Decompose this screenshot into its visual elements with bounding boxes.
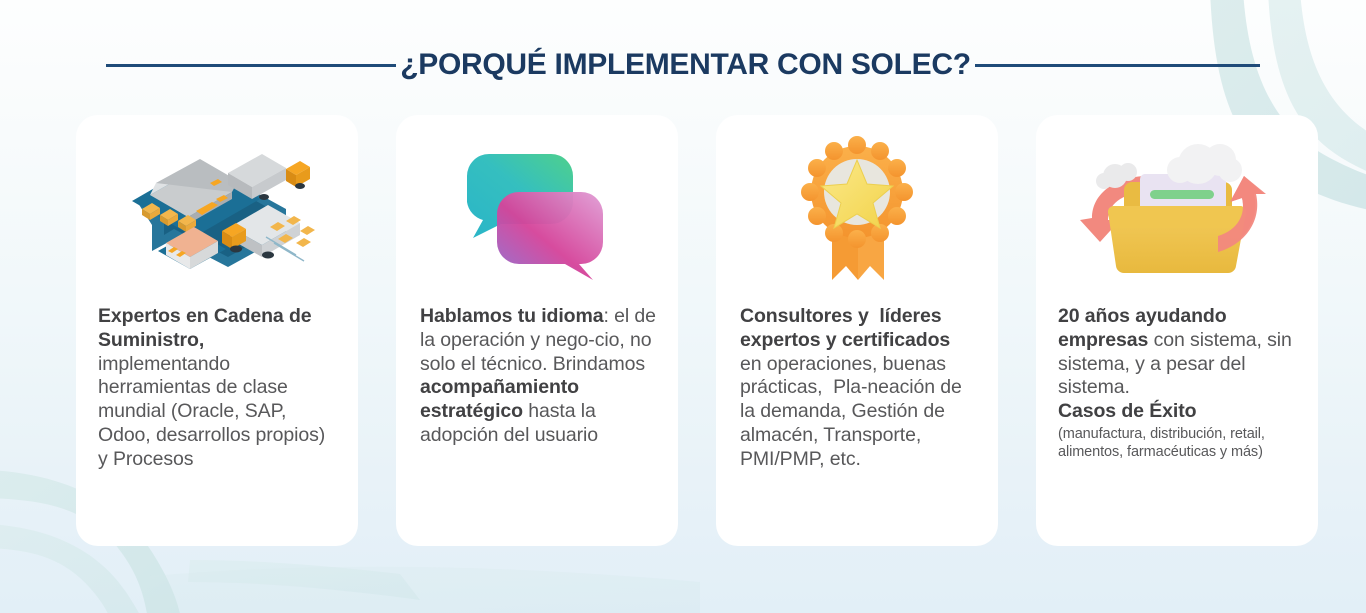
benefit-card-text: 20 años ayudando empresas con sistema, s… [1036, 305, 1318, 461]
benefit-card[interactable]: Hablamos tu idioma: el de la operación y… [396, 115, 678, 546]
benefit-card-text: Consultores y líderes expertos y certifi… [716, 305, 998, 471]
folder-documents-refresh-icon [1036, 115, 1318, 305]
section-header: ¿PORQUÉ IMPLEMENTAR CON SOLEC? [0, 44, 1366, 86]
page-title: ¿PORQUÉ IMPLEMENTAR CON SOLEC? [396, 50, 974, 80]
speech-bubbles-icon [396, 115, 678, 305]
benefit-card-list: Expertos en Cadena de Suministro, implem… [76, 115, 1318, 546]
header-rule-right [975, 64, 1260, 67]
award-ribbon-star-icon [716, 115, 998, 305]
benefit-card[interactable]: Expertos en Cadena de Suministro, implem… [76, 115, 358, 546]
benefit-card-text: Expertos en Cadena de Suministro, implem… [76, 305, 358, 471]
benefit-card-text: Hablamos tu idioma: el de la operación y… [396, 305, 678, 448]
benefit-card[interactable]: 20 años ayudando empresas con sistema, s… [1036, 115, 1318, 546]
benefit-card[interactable]: Consultores y líderes expertos y certifi… [716, 115, 998, 546]
header-rule-left [106, 64, 396, 67]
supply-chain-isometric-icon [76, 115, 358, 305]
ribbon-bottom-band [150, 567, 700, 613]
